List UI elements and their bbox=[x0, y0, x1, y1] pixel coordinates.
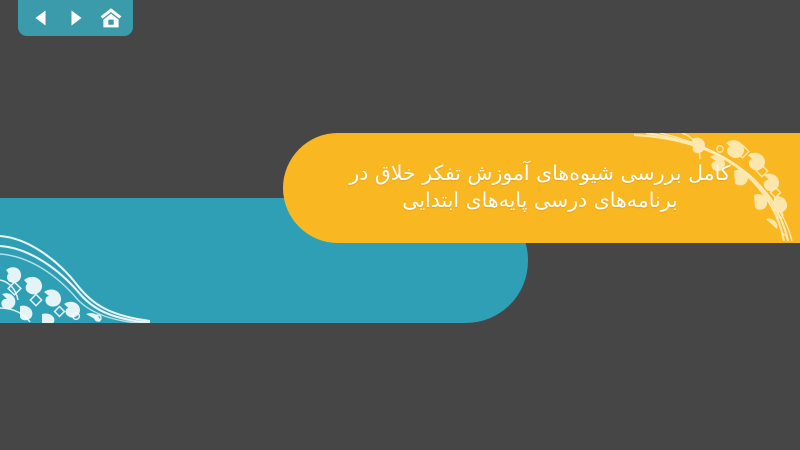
previous-button[interactable] bbox=[28, 5, 54, 31]
triangle-right-icon bbox=[66, 8, 86, 28]
title-banner bbox=[283, 133, 800, 243]
navigation-bar bbox=[18, 0, 133, 36]
presentation-slide: کامل بررسی شیوه‌های آموزش تفکر خلاق در ب… bbox=[0, 0, 800, 450]
triangle-left-icon bbox=[31, 8, 51, 28]
home-icon bbox=[99, 7, 123, 29]
next-button[interactable] bbox=[63, 5, 89, 31]
arabesque-corner-ornament bbox=[0, 218, 150, 323]
home-button[interactable] bbox=[98, 5, 124, 31]
arabesque-corner-ornament bbox=[630, 133, 800, 241]
